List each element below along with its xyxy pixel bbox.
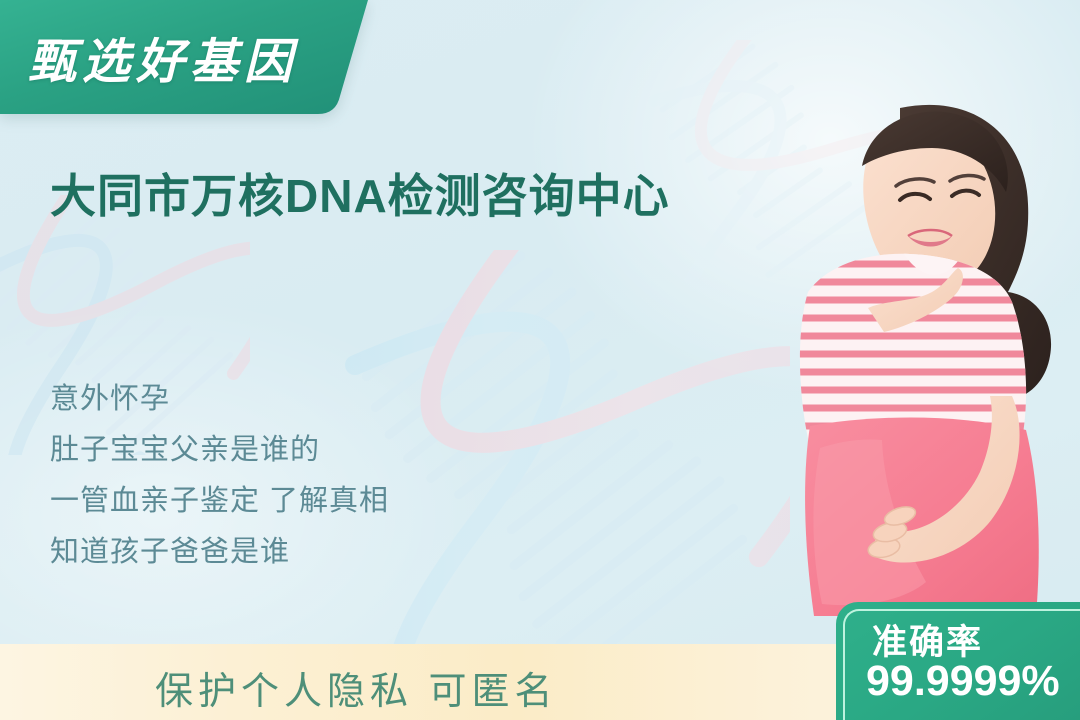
page-title: 大同市万核DNA检测咨询中心 xyxy=(50,160,670,226)
pregnant-woman-photo xyxy=(750,96,1080,656)
privacy-bar-text: 保护个人隐私 可匿名 xyxy=(155,660,558,715)
brand-logo-text: 甄选好基因 xyxy=(28,22,318,92)
accuracy-badge-value: 99.9999% xyxy=(866,657,1060,706)
copy-block: 意外怀孕 肚子宝宝父亲是谁的 一管血亲子鉴定 了解真相 知道孩子爸爸是谁 xyxy=(50,374,520,578)
accuracy-badge: 准确率 99.9999% xyxy=(836,602,1080,720)
copy-line: 一管血亲子鉴定 了解真相 xyxy=(50,476,520,527)
copy-line: 意外怀孕 xyxy=(50,374,520,425)
copy-line: 肚子宝宝父亲是谁的 xyxy=(50,425,520,476)
copy-line: 知道孩子爸爸是谁 xyxy=(50,527,520,578)
promo-poster: 保护个人隐私 可匿名 甄选好基因 大同市万核DNA检测咨询中心 意外怀孕 肚子宝… xyxy=(0,0,1080,720)
